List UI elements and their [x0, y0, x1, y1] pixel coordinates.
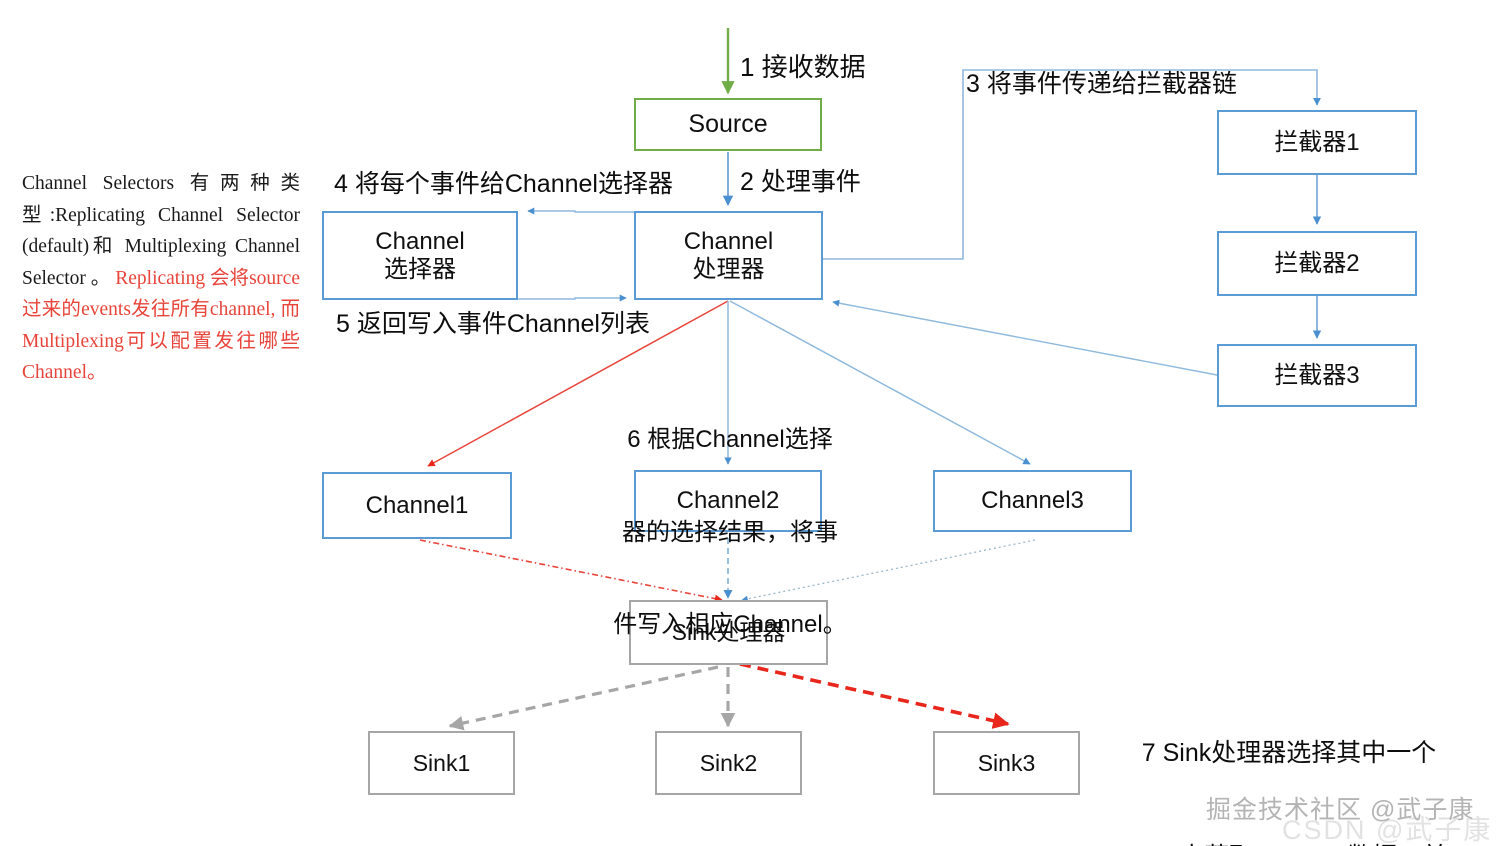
- channel-selector-note: Channel Selectors 有两种类型:Replicating Chan…: [22, 168, 300, 389]
- node-channel-selector[interactable]: Channel 选择器: [322, 211, 518, 300]
- step-3-label: 3 将事件传递给拦截器链: [966, 68, 1237, 100]
- step-4-label: 4 将每个事件给Channel选择器: [334, 168, 673, 200]
- node-source[interactable]: Source: [634, 98, 822, 151]
- edge-selector-to-channel-processor: [518, 298, 626, 299]
- node-channel-3-label: Channel3: [981, 487, 1084, 515]
- node-channel-processor-label: Channel 处理器: [684, 228, 773, 283]
- diagram-canvas: Source Channel 选择器 Channel 处理器 拦截器1 拦截器2…: [0, 0, 1500, 846]
- node-source-label: Source: [688, 110, 767, 139]
- node-interceptor-2[interactable]: 拦截器2: [1217, 231, 1417, 296]
- node-channel-selector-label: Channel 选择器: [375, 228, 464, 283]
- step-6-line-2: 器的选择结果，将事: [580, 518, 880, 549]
- node-channel-processor[interactable]: Channel 处理器: [634, 211, 823, 300]
- node-interceptor-3-label: 拦截器3: [1274, 362, 1359, 390]
- edge-channel-processor-to-selector: [528, 211, 634, 212]
- step-1-label: 1 接收数据: [740, 51, 866, 84]
- node-sink-3[interactable]: Sink3: [933, 731, 1080, 795]
- node-interceptor-1[interactable]: 拦截器1: [1217, 110, 1417, 175]
- edge-interceptor-3-to-channel-processor: [833, 302, 1217, 375]
- step-2-label: 2 处理事件: [740, 166, 861, 198]
- node-interceptor-1-label: 拦截器1: [1274, 129, 1359, 157]
- step-7-label: 7 Sink处理器选择其中一个 Sink去获取Channel数据，并 将获取数据…: [1094, 667, 1484, 846]
- node-channel-3[interactable]: Channel3: [933, 470, 1132, 532]
- node-channel-1[interactable]: Channel1: [322, 472, 512, 539]
- step-6-line-3: 件写入相应Channel。: [580, 610, 880, 641]
- node-channel-1-label: Channel1: [366, 492, 469, 520]
- node-interceptor-2-label: 拦截器2: [1274, 250, 1359, 278]
- node-sink-3-label: Sink3: [978, 750, 1036, 776]
- step-7-line-1: 7 Sink处理器选择其中一个: [1094, 736, 1484, 771]
- node-sink-1[interactable]: Sink1: [368, 731, 515, 795]
- node-sink-2[interactable]: Sink2: [655, 731, 802, 795]
- step-6-line-1: 6 根据Channel选择: [580, 425, 880, 456]
- step-7-line-2: Sink去获取Channel数据，并: [1094, 840, 1484, 846]
- node-interceptor-3[interactable]: 拦截器3: [1217, 344, 1417, 407]
- node-sink-2-label: Sink2: [700, 750, 758, 776]
- node-sink-1-label: Sink1: [413, 750, 471, 776]
- step-5-label: 5 返回写入事件Channel列表: [336, 308, 650, 340]
- step-6-label: 6 根据Channel选择 器的选择结果，将事 件写入相应Channel。: [580, 364, 880, 702]
